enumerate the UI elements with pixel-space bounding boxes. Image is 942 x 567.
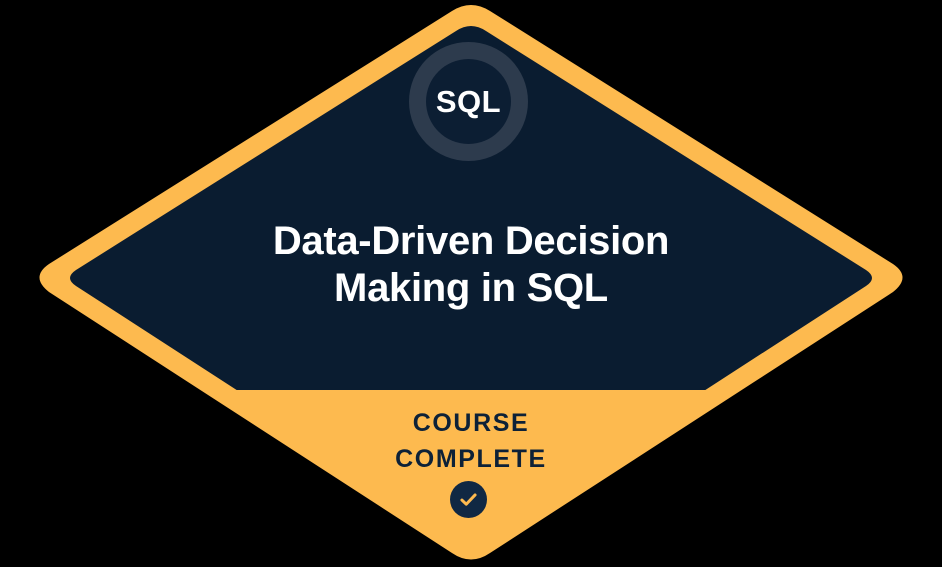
sql-emblem-icon: SQL (409, 42, 528, 161)
sql-emblem-core: SQL (426, 59, 511, 144)
check-mark-icon (458, 489, 479, 510)
sql-emblem-label: SQL (436, 86, 501, 117)
course-completion-badge: SQL Data-Driven Decision Making in SQL C… (0, 0, 942, 567)
check-circle-icon (450, 481, 487, 518)
